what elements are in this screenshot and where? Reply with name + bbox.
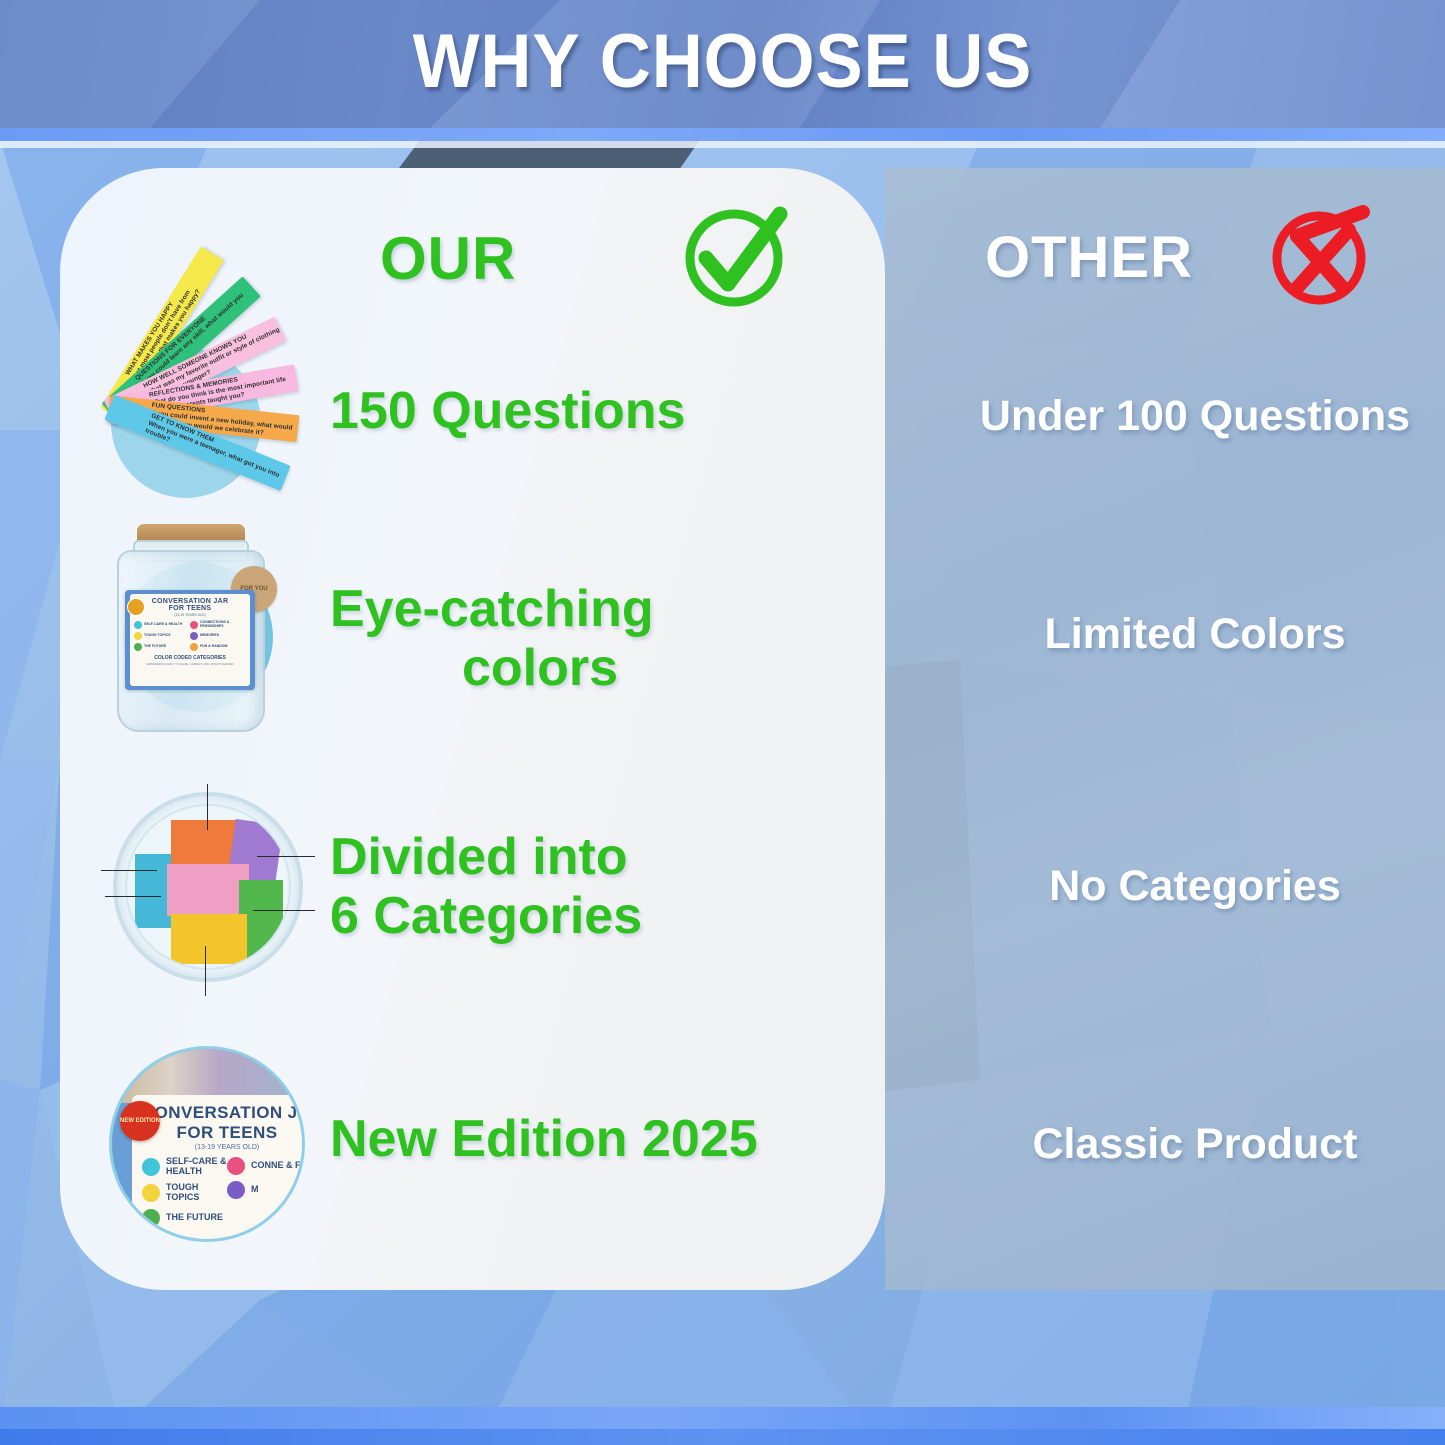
our-feature-text: Eye-catching colors <box>330 580 875 699</box>
pointer-line <box>105 896 161 897</box>
pointer-line <box>207 784 208 830</box>
our-column-label: OUR <box>380 224 516 293</box>
check-circle-icon <box>676 196 796 321</box>
x-circle-icon <box>1263 196 1381 319</box>
jar-contents <box>125 804 291 970</box>
jar-label: CONVERSATION JAR FOR TEENS (13-19 YEARS … <box>125 590 255 690</box>
our-feature-text: 150 Questions <box>330 382 875 441</box>
jar-label-title: CONVERSATION JAR <box>134 598 246 605</box>
our-feature-text-line: 6 Categories <box>330 887 875 946</box>
our-feature-text: Divided into 6 Categories <box>330 828 875 947</box>
label-category: CONNE & FRI <box>227 1157 305 1175</box>
pointer-line <box>101 870 157 871</box>
jar-category: THE FUTURE <box>134 643 190 651</box>
other-feature-text: Classic Product <box>895 1120 1445 1169</box>
pointer-line <box>253 910 315 911</box>
comparison-content: OUR OTHER WHAT MAKES YOU HAPPY that most… <box>0 0 1445 1445</box>
pointer-line <box>257 856 315 857</box>
jar-label-subtitle: (13-19 YEARS OLD) <box>134 613 246 617</box>
jar-category: FUN & RANDOM <box>190 643 246 651</box>
other-column-label: OTHER <box>985 224 1193 291</box>
other-feature-text: Under 100 Questions <box>895 392 1445 441</box>
new-edition-badge: NEW EDITION <box>120 1101 160 1141</box>
our-feature-text-line: Divided into <box>330 828 875 887</box>
jar-category: SELF-CARE & HEALTH <box>134 621 190 629</box>
other-feature-text: Limited Colors <box>895 610 1445 659</box>
other-feature-text: No Categories <box>895 862 1445 911</box>
jar-category: CONNECTIONS & FRIENDSHIPS <box>190 621 246 629</box>
label-category: TOUGH TOPICS <box>142 1183 227 1203</box>
label-category: THE FUTURE <box>142 1209 227 1227</box>
our-feature-text-line: colors <box>330 639 750 698</box>
label-category: SELF-CARE & HEALTH <box>142 1157 227 1177</box>
label-closeup-image: CONVERSATION J FOR TEENS (13-19 YEARS OL… <box>95 1032 320 1257</box>
label-title2: FOR TEENS <box>142 1123 305 1143</box>
conversation-jar-image: FOR YOU CONVERSATION JAR FOR TEENS (13-1… <box>95 522 320 747</box>
label-subtitle: (13-19 YEARS OLD) <box>142 1144 305 1151</box>
jar-category: MEMORIES <box>190 632 246 640</box>
other-column-header: OTHER <box>985 196 1381 319</box>
jar-label-footer-small: EMPOWERING FAMILY TO SHARE, CONNECT AND … <box>134 663 246 666</box>
our-feature-text-line: Eye-catching <box>330 580 875 639</box>
label-category: M <box>227 1181 305 1199</box>
jar-label-badge-icon <box>127 598 145 616</box>
pointer-line <box>205 946 206 996</box>
jar-label-footer: COLOR CODED CATEGORIES <box>134 655 246 661</box>
label-closeup-circle: CONVERSATION J FOR TEENS (13-19 YEARS OL… <box>109 1046 305 1242</box>
our-column-header: OUR <box>380 196 796 321</box>
jar-top-view-image <box>95 778 320 1003</box>
label-title: CONVERSATION J <box>142 1103 305 1123</box>
jar-category: TOUGH TOPICS <box>134 632 190 640</box>
our-feature-text: New Edition 2025 <box>330 1110 875 1169</box>
jar-label-title2: FOR TEENS <box>134 605 246 612</box>
question-strips-fan-image: WHAT MAKES YOU HAPPY that most people do… <box>95 300 320 525</box>
